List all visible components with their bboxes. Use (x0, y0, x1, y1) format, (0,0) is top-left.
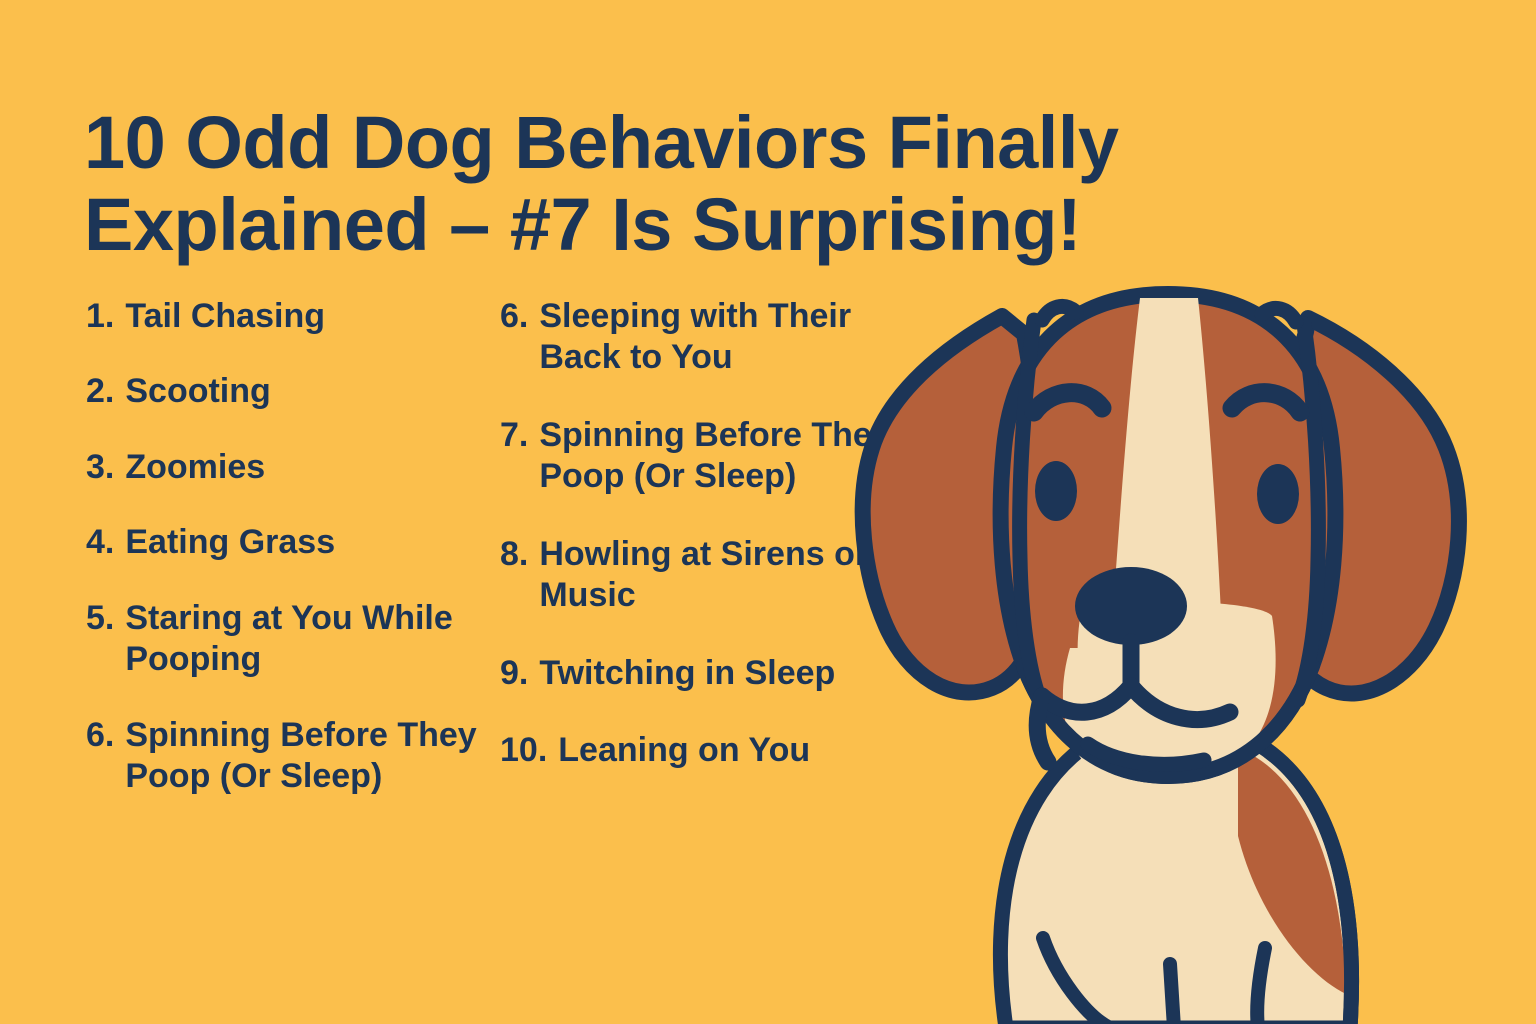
list-item-label: Spinning Before They Poop (Or Sleep) (125, 715, 478, 798)
list-item-label: Zoomies (125, 447, 478, 488)
dog-mouth-left-curl (1037, 696, 1048, 762)
list-item: 1. Tail Chasing (86, 296, 478, 337)
list-item-label: Staring at You While Pooping (125, 598, 478, 681)
list-item: 2. Scooting (86, 371, 478, 412)
list-item-number: 10. (500, 730, 547, 771)
list-item: 5. Staring at You While Pooping (86, 598, 478, 681)
list-item-label: Tail Chasing (125, 296, 478, 337)
dog-eye-left (1035, 461, 1077, 521)
dog-eye-right (1257, 464, 1299, 524)
dog-portrait-icon (838, 276, 1498, 1024)
page-title: 10 Odd Dog Behaviors Finally Explained –… (84, 102, 1344, 268)
list-item-number: 6. (86, 715, 114, 756)
list-item-number: 9. (500, 653, 528, 694)
list-item-label: Eating Grass (125, 522, 478, 563)
behavior-list-left: 1. Tail Chasing 2. Scooting 3. Zoomies 4… (86, 296, 478, 798)
list-item: 6. Spinning Before They Poop (Or Sleep) (86, 715, 478, 798)
dog-chest-line-center (1170, 964, 1174, 1024)
list-item-number: 4. (86, 522, 114, 563)
list-item-number: 1. (86, 296, 114, 337)
list-item: 4. Eating Grass (86, 522, 478, 563)
list-item-number: 2. (86, 371, 114, 412)
list-item-label: Scooting (125, 371, 478, 412)
list-item-number: 5. (86, 598, 114, 639)
dog-chest-line-right (1257, 948, 1265, 1024)
list-item-number: 7. (500, 415, 528, 456)
list-item: 3. Zoomies (86, 447, 478, 488)
list-item-number: 3. (86, 447, 114, 488)
poster-canvas: 10 Odd Dog Behaviors Finally Explained –… (0, 0, 1536, 1024)
behavior-list-left-column: 1. Tail Chasing 2. Scooting 3. Zoomies 4… (86, 296, 478, 832)
dog-nose (1075, 567, 1187, 645)
list-item-number: 6. (500, 296, 528, 337)
list-item-number: 8. (500, 534, 528, 575)
dog-illustration (838, 276, 1498, 1024)
